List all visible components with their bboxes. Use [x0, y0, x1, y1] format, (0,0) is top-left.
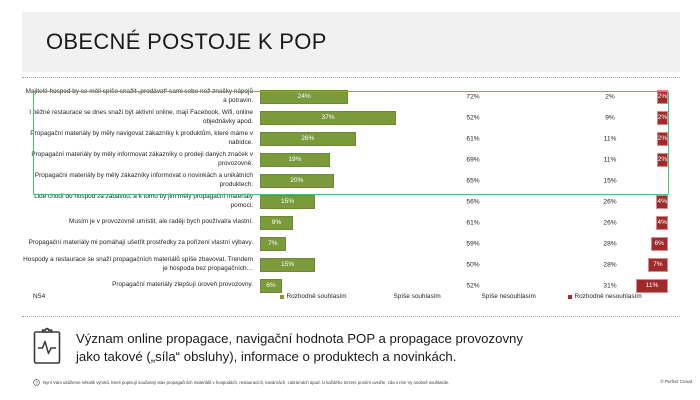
bar-value-spise-souhlasim: 72%: [466, 93, 479, 100]
chart-rows: Majitelé hospod by se měli spíše snažit …: [22, 86, 680, 296]
chart-row-plot: 9%61%26%4%: [260, 212, 680, 233]
chart-row: Lidé chodí do hospod za zábavou, a k tom…: [22, 191, 680, 212]
chart-row-plot: 15%56%26%4%: [260, 191, 680, 212]
bar-segment-rozhodne-nesouhlasim: 4%: [656, 195, 668, 209]
footnote-text: Nyní Vám ukážeme několik výroků, které p…: [43, 380, 450, 385]
bar-value-spise-souhlasim: 59%: [466, 240, 479, 247]
legend-item-spise-nesouhlasim[interactable]: Spíše nesouhlasím: [475, 293, 536, 300]
chart-row-label: Propagační materiály mi pomáhají ušetřit…: [22, 239, 260, 247]
chart-row: I běžné restaurace se dnes snaží být akt…: [22, 107, 680, 128]
header-divider: [22, 77, 680, 78]
bar-value-spise-nesouhlasim: 11%: [604, 156, 617, 163]
bar-segment-rozhodne-souhlasim: 7%: [260, 237, 286, 251]
legend-item-spise-souhlasim[interactable]: Spíše souhlasím: [387, 293, 441, 300]
bar-value-spise-nesouhlasim: 31%: [603, 282, 616, 289]
bar-value-spise-souhlasim: 50%: [466, 261, 479, 268]
chart-row: Propagační materiály by měly zákazníky i…: [22, 170, 680, 191]
question-mark-icon: ?: [33, 379, 40, 386]
chart-row-plot: 7%59%28%6%: [260, 233, 680, 254]
bar-value-spise-nesouhlasim: 28%: [603, 240, 616, 247]
bar-value-spise-souhlasim: 61%: [466, 135, 479, 142]
chart-row-label: Propagační materiály by měly informovat …: [22, 151, 260, 167]
chart-row-label: Hospody a restaurace se snaží propagační…: [22, 256, 260, 272]
legend-item-rozhodne-nesouhlasim[interactable]: Rozhodně nesouhlasím: [568, 293, 642, 300]
bar-value-spise-souhlasim: 56%: [466, 198, 479, 205]
chart-legend: N54 Rozhodně souhlasím Spíše souhlasím S…: [22, 290, 680, 306]
chart-row-plot: 19%69%11%2%: [260, 149, 680, 170]
chart-row-label: I běžné restaurace se dnes snaží být akt…: [22, 109, 260, 125]
copyright-label: © Perfect Crowd: [660, 379, 692, 384]
chart-row: Hospody a restaurace se snaží propagační…: [22, 254, 680, 275]
svg-text:?: ?: [35, 380, 38, 385]
callout-line-1: Význam online propagace, navigační hodno…: [76, 330, 523, 348]
footnote: ? Nyní Vám ukážeme několik výroků, které…: [33, 379, 673, 386]
chart-row-label: Propagační materiály zlepšují úroveň pro…: [22, 281, 260, 289]
bar-value-spise-nesouhlasim: 2%: [605, 93, 615, 100]
chart-row: Propagační materiály by měly informovat …: [22, 149, 680, 170]
bar-segment-rozhodne-souhlasim: 9%: [260, 216, 293, 230]
page-title: OBECNÉ POSTOJE K POP: [22, 29, 327, 55]
chart-row: Majitelé hospod by se měli spíše snažit …: [22, 86, 680, 107]
clipboard-pulse-icon: [32, 327, 68, 370]
chart-row-plot: 20%65%15%: [260, 170, 680, 191]
bar-value-spise-souhlasim: 52%: [466, 114, 479, 121]
callout-text: Význam online propagace, navigační hodno…: [76, 330, 523, 366]
bar-value-spise-nesouhlasim: 11%: [604, 135, 617, 142]
slide-header-band: OBECNÉ POSTOJE K POP: [22, 12, 680, 72]
legend-label: Rozhodně nesouhlasím: [575, 293, 642, 300]
chart-row-label: Propagační materiály by měly zákazníky i…: [22, 172, 260, 188]
bar-segment-rozhodne-nesouhlasim: 2%: [657, 111, 668, 125]
legend-item-rozhodne-souhlasim[interactable]: Rozhodně souhlasím: [280, 293, 347, 300]
chart-row-plot: 37%52%9%2%: [260, 107, 680, 128]
bar-segment-rozhodne-nesouhlasim: 7%: [648, 258, 668, 272]
callout-line-2: jako takové („síla“ obsluhy), informace …: [76, 348, 523, 366]
bar-segment-rozhodne-nesouhlasim: 2%: [657, 132, 668, 146]
legend-swatch-red: [568, 295, 572, 299]
chart-row: Musím je v provozovně umístit, ale raděj…: [22, 212, 680, 233]
chart-row-label: Musím je v provozovně umístit, ale raděj…: [22, 218, 260, 226]
sample-base-label: N54: [33, 293, 45, 300]
bar-value-spise-souhlasim: 65%: [466, 177, 479, 184]
stacked-bar-chart: Majitelé hospod by se měli spíše snažit …: [22, 86, 680, 308]
chart-row: Propagační materiály mi pomáhají ušetřit…: [22, 233, 680, 254]
bar-segment-rozhodne-souhlasim: 15%: [260, 258, 315, 272]
bar-segment-rozhodne-souhlasim: 20%: [260, 174, 334, 188]
bar-value-spise-souhlasim: 52%: [466, 282, 479, 289]
legend-label: Spíše nesouhlasím: [482, 293, 536, 300]
bar-value-spise-souhlasim: 61%: [466, 219, 479, 226]
bar-segment-rozhodne-souhlasim: 37%: [260, 111, 396, 125]
chart-row-plot: 24%72%2%2%: [260, 86, 680, 107]
chart-row: Propagační materiály by měly navigovat z…: [22, 128, 680, 149]
bar-segment-rozhodne-nesouhlasim: 2%: [657, 90, 668, 104]
bar-value-spise-nesouhlasim: 9%: [605, 114, 615, 121]
bar-value-spise-nesouhlasim: 28%: [603, 261, 616, 268]
bar-segment-rozhodne-souhlasim: 26%: [260, 132, 356, 146]
bar-value-spise-nesouhlasim: 15%: [603, 177, 616, 184]
bar-segment-rozhodne-souhlasim: 15%: [260, 195, 315, 209]
chart-row-label: Majitelé hospod by se měli spíše snažit …: [22, 88, 260, 104]
bar-segment-rozhodne-nesouhlasim: 4%: [656, 216, 668, 230]
bar-segment-rozhodne-souhlasim: 19%: [260, 153, 330, 167]
chart-row-plot: 15%50%28%7%: [260, 254, 680, 275]
bar-value-spise-nesouhlasim: 26%: [603, 219, 616, 226]
bar-segment-rozhodne-nesouhlasim: 6%: [651, 237, 668, 251]
chart-row-label: Lidé chodí do hospod za zábavou, a k tom…: [22, 193, 260, 209]
chart-row-plot: 26%61%11%2%: [260, 128, 680, 149]
bar-segment-rozhodne-souhlasim: 24%: [260, 90, 348, 104]
legend-swatch-green: [280, 295, 284, 299]
bar-segment-rozhodne-nesouhlasim: 2%: [657, 153, 668, 167]
bar-value-spise-nesouhlasim: 26%: [603, 198, 616, 205]
summary-callout: Význam online propagace, navigační hodno…: [22, 322, 680, 374]
callout-divider: [22, 316, 680, 317]
legend-label: Rozhodně souhlasím: [287, 293, 347, 300]
legend-label: Spíše souhlasím: [394, 293, 441, 300]
chart-row-label: Propagační materiály by měly navigovat z…: [22, 130, 260, 146]
bar-value-spise-souhlasim: 69%: [466, 156, 479, 163]
